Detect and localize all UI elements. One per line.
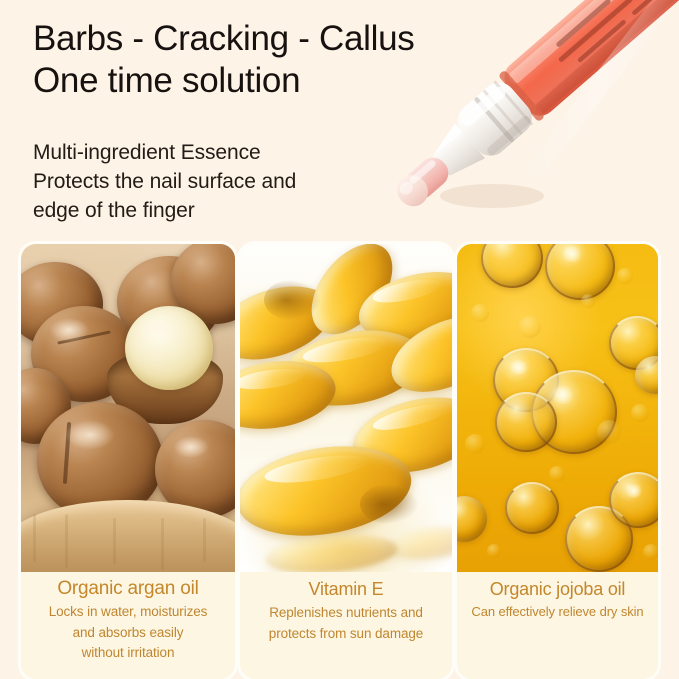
ingredient-title: Organic jojoba oil bbox=[457, 576, 658, 602]
ingredient-title: Vitamin E bbox=[240, 576, 452, 602]
headline-line-2: One time solution bbox=[33, 60, 553, 102]
subheading: Multi-ingredient Essence Protects the na… bbox=[33, 138, 433, 225]
description-line-3: without irritation bbox=[24, 643, 232, 664]
product-infographic: Barbs - Cracking - Callus One time solut… bbox=[0, 0, 679, 679]
description-line-1: Can effectively relieve dry skin bbox=[460, 602, 655, 622]
description-line-1: Locks in water, moisturizes bbox=[24, 602, 232, 623]
page-title: Barbs - Cracking - Callus One time solut… bbox=[33, 18, 553, 102]
ingredient-photo-vitamin-e-capsules bbox=[240, 244, 452, 572]
ingredient-title: Organic argan oil bbox=[21, 576, 235, 602]
ingredient-card-vitamin-e[interactable]: Vitamin E Replenishes nutrients and prot… bbox=[240, 244, 452, 679]
ingredient-card-argan-oil[interactable]: Organic argan oil Locks in water, moistu… bbox=[21, 244, 235, 679]
ingredient-description: Replenishes nutrients and protects from … bbox=[240, 602, 452, 644]
ingredient-caption-vitamin-e: Vitamin E Replenishes nutrients and prot… bbox=[240, 572, 452, 679]
ingredient-photo-macadamia-nuts bbox=[21, 244, 235, 572]
ingredient-cards: Organic argan oil Locks in water, moistu… bbox=[0, 244, 679, 679]
ingredient-description: Can effectively relieve dry skin bbox=[457, 602, 658, 622]
ingredient-description: Locks in water, moisturizes and absorbs … bbox=[21, 602, 235, 664]
description-line-2: protects from sun damage bbox=[243, 623, 449, 644]
description-line-1: Replenishes nutrients and bbox=[243, 602, 449, 623]
subheading-line-3: edge of the finger bbox=[33, 196, 433, 225]
subheading-line-1: Multi-ingredient Essence bbox=[33, 138, 433, 167]
ingredient-caption-jojoba-oil: Organic jojoba oil Can effectively relie… bbox=[457, 572, 658, 679]
ingredient-photo-jojoba-oil bbox=[457, 244, 658, 572]
ingredient-card-jojoba-oil[interactable]: Organic jojoba oil Can effectively relie… bbox=[457, 244, 658, 679]
ingredient-caption-argan-oil: Organic argan oil Locks in water, moistu… bbox=[21, 572, 235, 679]
hero-section: Barbs - Cracking - Callus One time solut… bbox=[0, 0, 679, 244]
subheading-line-2: Protects the nail surface and bbox=[33, 167, 433, 196]
description-line-2: and absorbs easily bbox=[24, 623, 232, 644]
headline-line-1: Barbs - Cracking - Callus bbox=[33, 18, 553, 60]
